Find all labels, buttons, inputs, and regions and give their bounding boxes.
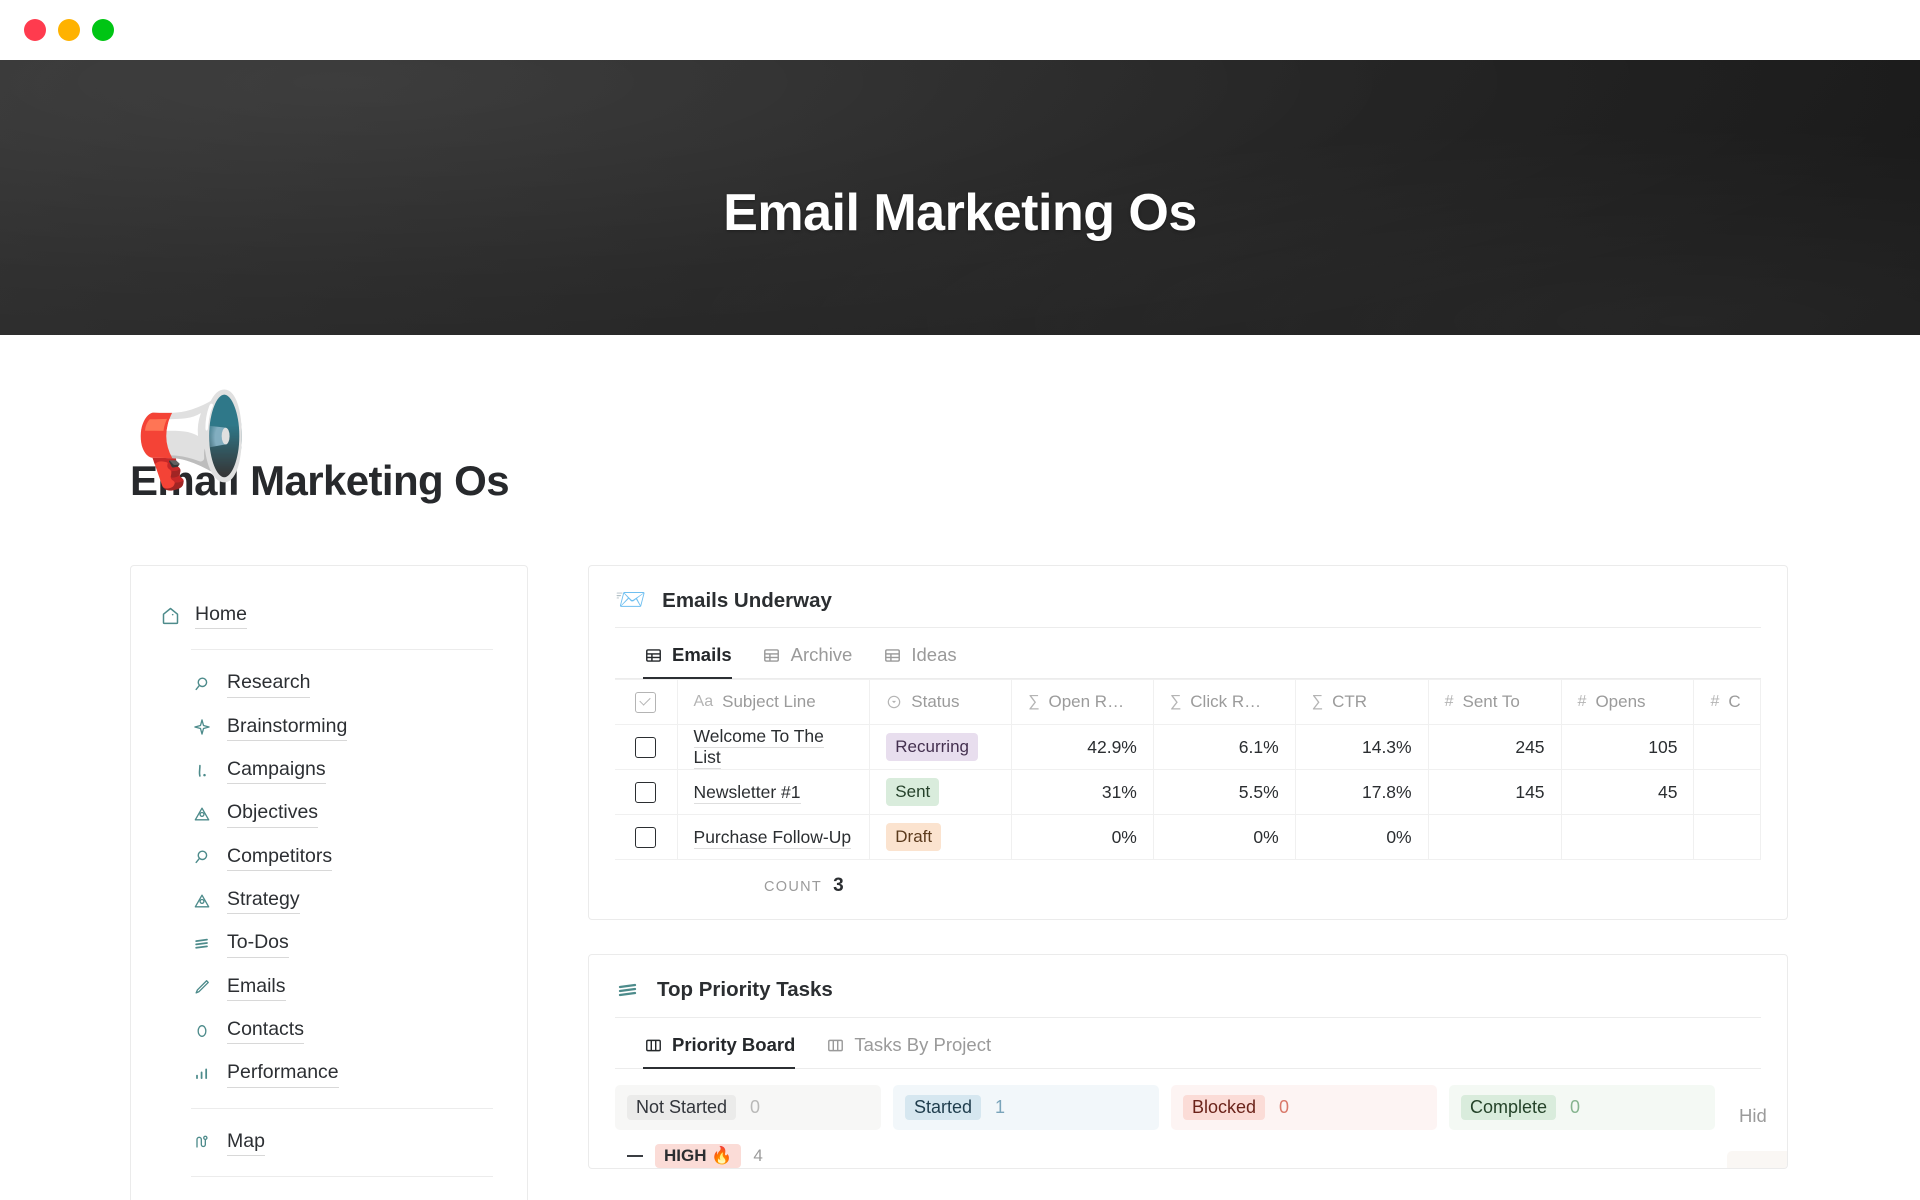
board-card-clipped[interactable]: HIGH 🔥 4 [615, 1130, 881, 1168]
sidebar-item-contacts[interactable]: Contacts [159, 1009, 493, 1052]
mountain-icon [191, 890, 213, 912]
number-type-icon: # [1710, 693, 1719, 711]
tab-tasks-by-project[interactable]: Tasks By Project [825, 1034, 991, 1069]
board-column-header[interactable]: Complete 0 [1449, 1085, 1715, 1130]
cell-clicks[interactable] [1694, 725, 1761, 770]
column-label: Click R… [1190, 692, 1261, 712]
cell-status[interactable]: Draft [870, 815, 1012, 860]
column-label: CTR [1332, 692, 1367, 712]
tab-label: Emails [672, 644, 732, 666]
board-icon [643, 1035, 663, 1055]
sidebar-item-label: Competitors [227, 844, 332, 871]
sidebar-item-label: Strategy [227, 887, 300, 914]
table-icon [882, 645, 902, 665]
board-column-header[interactable]: Hid [1727, 1085, 1787, 1137]
emails-view-tabs: Emails Archive [589, 628, 1787, 678]
sidebar-item-home[interactable]: Home [159, 594, 493, 637]
cell-click-rate[interactable]: 5.5% [1153, 770, 1295, 815]
column-click-rate[interactable]: ∑Click R… [1153, 680, 1295, 725]
cell-opens[interactable] [1561, 815, 1694, 860]
magnifier-icon [191, 846, 213, 868]
column-label: Sent To [1463, 692, 1520, 712]
column-label: Status [911, 692, 959, 712]
table-icon [762, 645, 782, 665]
cell-clicks[interactable] [1694, 815, 1761, 860]
zoom-button[interactable] [92, 19, 114, 41]
emails-count-footer[interactable]: Count 3 [589, 860, 1787, 919]
column-subject-line[interactable]: AaSubject Line [677, 680, 870, 725]
cell-open-rate[interactable]: 0% [1012, 815, 1154, 860]
oval-icon [191, 1020, 213, 1042]
top-priority-tasks-card: Top Priority Tasks Priority Board [588, 954, 1788, 1169]
sidebar-item-to-dos[interactable]: To-Dos [159, 922, 493, 965]
cell-sent-to[interactable] [1428, 815, 1561, 860]
column-sent-to[interactable]: #Sent To [1428, 680, 1561, 725]
column-open-rate[interactable]: ∑Open R… [1012, 680, 1154, 725]
sparkle-icon [191, 716, 213, 738]
column-label: C [1728, 692, 1740, 712]
select-icon [886, 694, 902, 710]
board-column-header[interactable]: Not Started 0 [615, 1085, 881, 1130]
tab-label: Ideas [911, 644, 956, 666]
board-column-started[interactable]: Started 1 [893, 1085, 1159, 1169]
window-title-bar [0, 0, 1920, 60]
sidebar-divider-bottom [191, 1176, 493, 1177]
emails-card-title: Emails Underway [662, 589, 832, 613]
column-count: 0 [1570, 1097, 1580, 1118]
envelope-icon: 📨 [615, 588, 646, 613]
tasks-card-title: Top Priority Tasks [657, 978, 833, 1002]
table-row[interactable]: Welcome To The List Recurring 42.9% 6.1%… [615, 725, 1761, 770]
number-type-icon: # [1578, 693, 1587, 711]
sidebar-item-label: Map [227, 1129, 265, 1156]
sidebar-item-map[interactable]: Map [159, 1121, 493, 1164]
stack-icon [191, 933, 213, 955]
status-badge: Sent [886, 778, 939, 805]
sum-icon: ∑ [1170, 693, 1181, 711]
column-opens[interactable]: #Opens [1561, 680, 1694, 725]
column-label: Subject Line [722, 692, 816, 712]
route-icon [191, 1131, 213, 1153]
home-icon [159, 605, 181, 627]
count-label: Count [764, 879, 822, 895]
select-all-header[interactable] [615, 680, 677, 725]
sidebar-item-brainstorming[interactable]: Brainstorming [159, 706, 493, 749]
board-column-complete[interactable]: Complete 0 [1449, 1085, 1715, 1169]
priority-count: 4 [753, 1146, 762, 1166]
status-badge: Draft [886, 823, 941, 850]
emails-card-header: 📨 Emails Underway [589, 588, 1787, 627]
sidebar-item-research[interactable]: Research [159, 662, 493, 705]
mountain-icon [191, 803, 213, 825]
cell-ctr[interactable]: 0% [1295, 815, 1428, 860]
sidebar-item-label: Objectives [227, 800, 318, 827]
tasks-card-header: Top Priority Tasks [589, 977, 1787, 1017]
status-badge: Blocked [1183, 1095, 1265, 1120]
status-badge: Recurring [886, 733, 978, 760]
column-count: 0 [1279, 1097, 1289, 1118]
board-icon [825, 1035, 845, 1055]
candle-icon [191, 760, 213, 782]
tasks-view-tabs: Priority Board Tasks By Project [589, 1018, 1787, 1068]
cell-subject[interactable]: Welcome To The List [677, 725, 870, 770]
cell-opens[interactable]: 105 [1561, 725, 1694, 770]
cell-status[interactable]: Sent [870, 770, 1012, 815]
column-clicks-clipped[interactable]: #C [1694, 680, 1761, 725]
tab-label: Priority Board [672, 1034, 795, 1056]
hero-banner[interactable]: Email Marketing Os [0, 60, 1920, 335]
stack-icon [615, 977, 641, 1003]
checkbox-icon[interactable] [635, 692, 656, 713]
sidebar-item-campaigns[interactable]: Campaigns [159, 749, 493, 792]
checkbox-icon[interactable] [635, 737, 656, 758]
status-badge: Started [905, 1095, 981, 1120]
cell-open-rate[interactable]: 31% [1012, 770, 1154, 815]
board-column-not-started[interactable]: Not Started 0 HIGH 🔥 4 [615, 1085, 881, 1169]
sidebar-item-label: Contacts [227, 1017, 304, 1044]
window-controls [24, 19, 114, 41]
tab-archive[interactable]: Archive [762, 644, 853, 679]
sidebar-item-label: Performance [227, 1060, 339, 1087]
sum-icon: ∑ [1028, 693, 1039, 711]
status-badge: Not Started [627, 1095, 736, 1120]
tab-priority-board[interactable]: Priority Board [643, 1034, 795, 1069]
sum-icon: ∑ [1312, 693, 1323, 711]
sidebar-item-emails[interactable]: Emails [159, 966, 493, 1009]
table-icon [643, 645, 663, 665]
cell-subject[interactable]: Purchase Follow-Up [677, 815, 870, 860]
cell-sent-to[interactable]: 145 [1428, 770, 1561, 815]
text-type-icon: Aa [694, 693, 714, 711]
sidebar-item-label: Emails [227, 974, 286, 1001]
sidebar-item-strategy[interactable]: Strategy [159, 879, 493, 922]
bar-chart-icon [191, 1063, 213, 1085]
column-count: 0 [750, 1097, 760, 1118]
board-column-blocked[interactable]: Blocked 0 [1171, 1085, 1437, 1169]
sidebar-item-label: Research [227, 670, 310, 697]
sidebar-item-label: Brainstorming [227, 714, 347, 741]
hidden-label: Hid [1739, 1095, 1767, 1127]
sidebar-item-label: To-Dos [227, 930, 289, 957]
cell-subject[interactable]: Newsletter #1 [677, 770, 870, 815]
page-body: 📢 Email Marketing Os Home [0, 457, 1920, 1200]
sidebar-nav-card: Home Research Brainstorming [130, 565, 528, 1200]
table-row[interactable]: Purchase Follow-Up Draft 0% 0% 0% [615, 815, 1761, 860]
drag-handle-icon[interactable] [627, 1155, 643, 1157]
cell-open-rate[interactable]: 42.9% [1012, 725, 1154, 770]
content-columns: Home Research Brainstorming [0, 565, 1920, 1200]
cell-click-rate[interactable]: 6.1% [1153, 725, 1295, 770]
column-label: Open R… [1048, 692, 1124, 712]
cell-click-rate[interactable]: 0% [1153, 815, 1295, 860]
row-checkbox-cell[interactable] [615, 725, 677, 770]
sidebar-item-performance[interactable]: Performance [159, 1052, 493, 1095]
cell-sent-to[interactable]: 245 [1428, 725, 1561, 770]
status-badge: Complete [1461, 1095, 1556, 1120]
board-column-hidden[interactable]: Hid [1727, 1085, 1787, 1169]
magnifier-icon [191, 673, 213, 695]
board-column-header[interactable]: Blocked 0 [1171, 1085, 1437, 1130]
sidebar-item-competitors[interactable]: Competitors [159, 836, 493, 879]
column-label: Opens [1595, 692, 1645, 712]
page-icon-megaphone-icon[interactable]: 📢 [134, 395, 249, 487]
banner-title: Email Marketing Os [0, 187, 1920, 239]
cell-ctr[interactable]: 14.3% [1295, 725, 1428, 770]
column-status[interactable]: Status [870, 680, 1012, 725]
board-column-header[interactable]: Started 1 [893, 1085, 1159, 1130]
close-button[interactable] [24, 19, 46, 41]
tab-label: Tasks By Project [854, 1034, 991, 1056]
emails-underway-card: 📨 Emails Underway [588, 565, 1788, 920]
main-column: 📨 Emails Underway [588, 565, 1788, 1169]
column-ctr[interactable]: ∑CTR [1295, 680, 1428, 725]
count-value: 3 [833, 875, 844, 897]
cell-status[interactable]: Recurring [870, 725, 1012, 770]
page-title: Email Marketing Os [130, 457, 1920, 505]
sidebar-divider-top [191, 649, 493, 650]
priority-board: Not Started 0 HIGH 🔥 4 Started 1 [589, 1069, 1787, 1169]
tab-emails[interactable]: Emails [643, 644, 732, 679]
board-card-placeholder[interactable] [1727, 1151, 1787, 1169]
checkbox-icon[interactable] [635, 827, 656, 848]
cell-clicks[interactable] [1694, 770, 1761, 815]
column-count: 1 [995, 1097, 1005, 1118]
minimize-button[interactable] [58, 19, 80, 41]
emails-table: AaSubject Line Status ∑Open R… [615, 679, 1761, 860]
table-row[interactable]: Newsletter #1 Sent 31% 5.5% 17.8% 145 45 [615, 770, 1761, 815]
row-checkbox-cell[interactable] [615, 815, 677, 860]
cell-ctr[interactable]: 17.8% [1295, 770, 1428, 815]
tab-ideas[interactable]: Ideas [882, 644, 956, 679]
cell-opens[interactable]: 45 [1561, 770, 1694, 815]
tab-label: Archive [791, 644, 853, 666]
number-type-icon: # [1445, 693, 1454, 711]
sidebar-divider-middle [191, 1108, 493, 1109]
sidebar-item-objectives[interactable]: Objectives [159, 792, 493, 835]
checkbox-icon[interactable] [635, 782, 656, 803]
row-checkbox-cell[interactable] [615, 770, 677, 815]
pen-icon [191, 976, 213, 998]
priority-badge: HIGH 🔥 [655, 1144, 741, 1168]
table-header-row: AaSubject Line Status ∑Open R… [615, 680, 1761, 725]
sidebar-item-label: Home [195, 602, 247, 629]
sidebar-item-label: Campaigns [227, 757, 326, 784]
